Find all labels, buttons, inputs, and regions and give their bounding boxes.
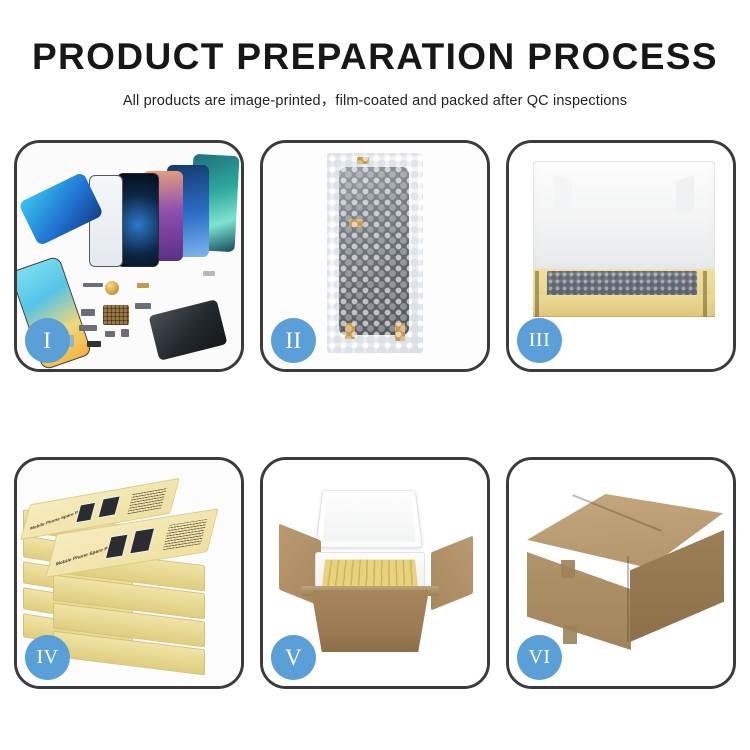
component-chip-3 (135, 303, 151, 309)
step-badge-3: III (517, 318, 562, 363)
step-badge-5: V (271, 635, 316, 680)
step-badge-2: II (271, 318, 316, 363)
label-text-lines-front (163, 519, 207, 550)
flex-cable-2 (87, 341, 101, 347)
carton-tape-upper (561, 560, 575, 578)
carton-vertical-seam (627, 556, 629, 642)
process-step-panel-6: VI (506, 457, 736, 689)
label-product-window-1 (75, 502, 96, 524)
component-chip-5 (79, 325, 97, 331)
speaker-component (105, 281, 119, 295)
carton-front-panel (303, 590, 437, 652)
process-steps-grid: I II (14, 140, 736, 689)
white-box-lid (533, 161, 715, 279)
component-chip-1 (83, 283, 103, 287)
product-preparation-process-page: PRODUCT PREPARATION PROCESS All products… (0, 0, 750, 750)
component-chip-4 (81, 309, 95, 316)
step-badge-6: VI (517, 635, 562, 680)
component-chip-8 (203, 271, 215, 276)
tape-bottom-right (395, 323, 405, 341)
process-step-panel-1: I (14, 140, 244, 372)
wrapped-phone-part (339, 167, 409, 335)
carton-tape-lower (563, 626, 577, 644)
phone-disassembled-chassis (148, 299, 227, 361)
label-text-lines-rear (127, 487, 167, 514)
process-step-panel-4: Mobile Phone Spare Parts Mobile Phone Sp… (14, 457, 244, 689)
page-title: PRODUCT PREPARATION PROCESS (0, 38, 750, 77)
component-chip-2 (137, 283, 149, 288)
step-badge-1: I (25, 318, 70, 363)
lid-flap-left (554, 175, 572, 215)
component-chip-7 (121, 329, 129, 337)
process-step-panel-5: V (260, 457, 490, 689)
logic-board-component (103, 305, 129, 325)
carton-flap-right (431, 536, 473, 611)
box-edge-right (703, 271, 707, 317)
step-badge-4: IV (25, 635, 70, 680)
process-step-panel-2: II (260, 140, 490, 372)
label-product-window-3 (105, 534, 129, 560)
process-step-panel-3: III (506, 140, 736, 372)
screen-protector (89, 175, 123, 267)
phone-dark-display (117, 173, 159, 267)
tape-middle (349, 219, 363, 227)
lid-flap-right (676, 175, 694, 215)
label-product-window-2 (97, 495, 120, 518)
component-chip-6 (105, 331, 115, 337)
page-subtitle: All products are image-printed，film-coat… (0, 89, 750, 110)
bubble-wrap-bag (327, 153, 423, 353)
tape-bottom-left (345, 323, 355, 339)
box-edge-left (535, 271, 539, 317)
label-product-window-4 (129, 527, 155, 554)
kraft-box-front-panel (533, 295, 715, 317)
tape-top (357, 157, 369, 164)
page-header: PRODUCT PREPARATION PROCESS All products… (0, 38, 750, 110)
foam-box-lid (315, 490, 423, 548)
